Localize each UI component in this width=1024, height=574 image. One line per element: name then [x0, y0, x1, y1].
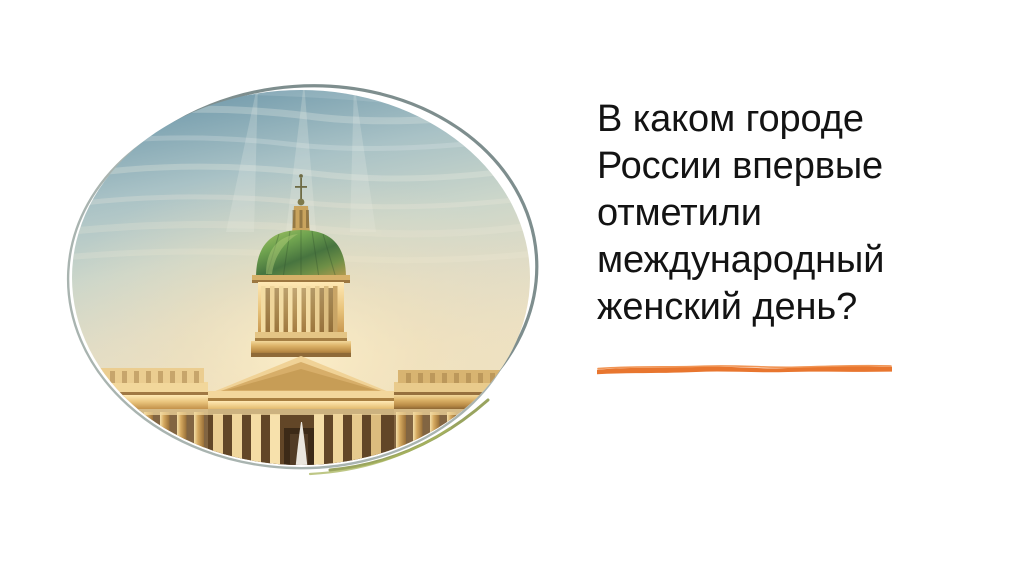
- orange-underline-icon: [592, 356, 902, 378]
- picture-block: [58, 82, 548, 484]
- question-text: В каком городе России впервые отметили м…: [597, 96, 927, 331]
- text-block: В каком городе России впервые отметили м…: [597, 96, 927, 331]
- drum-columns: [261, 286, 338, 332]
- shrubs: [58, 448, 188, 484]
- slide-canvas: В каком городе России впервые отметили м…: [0, 0, 1024, 574]
- underline-decoration: [592, 356, 902, 378]
- kazan-cathedral-oval-image: [58, 82, 548, 484]
